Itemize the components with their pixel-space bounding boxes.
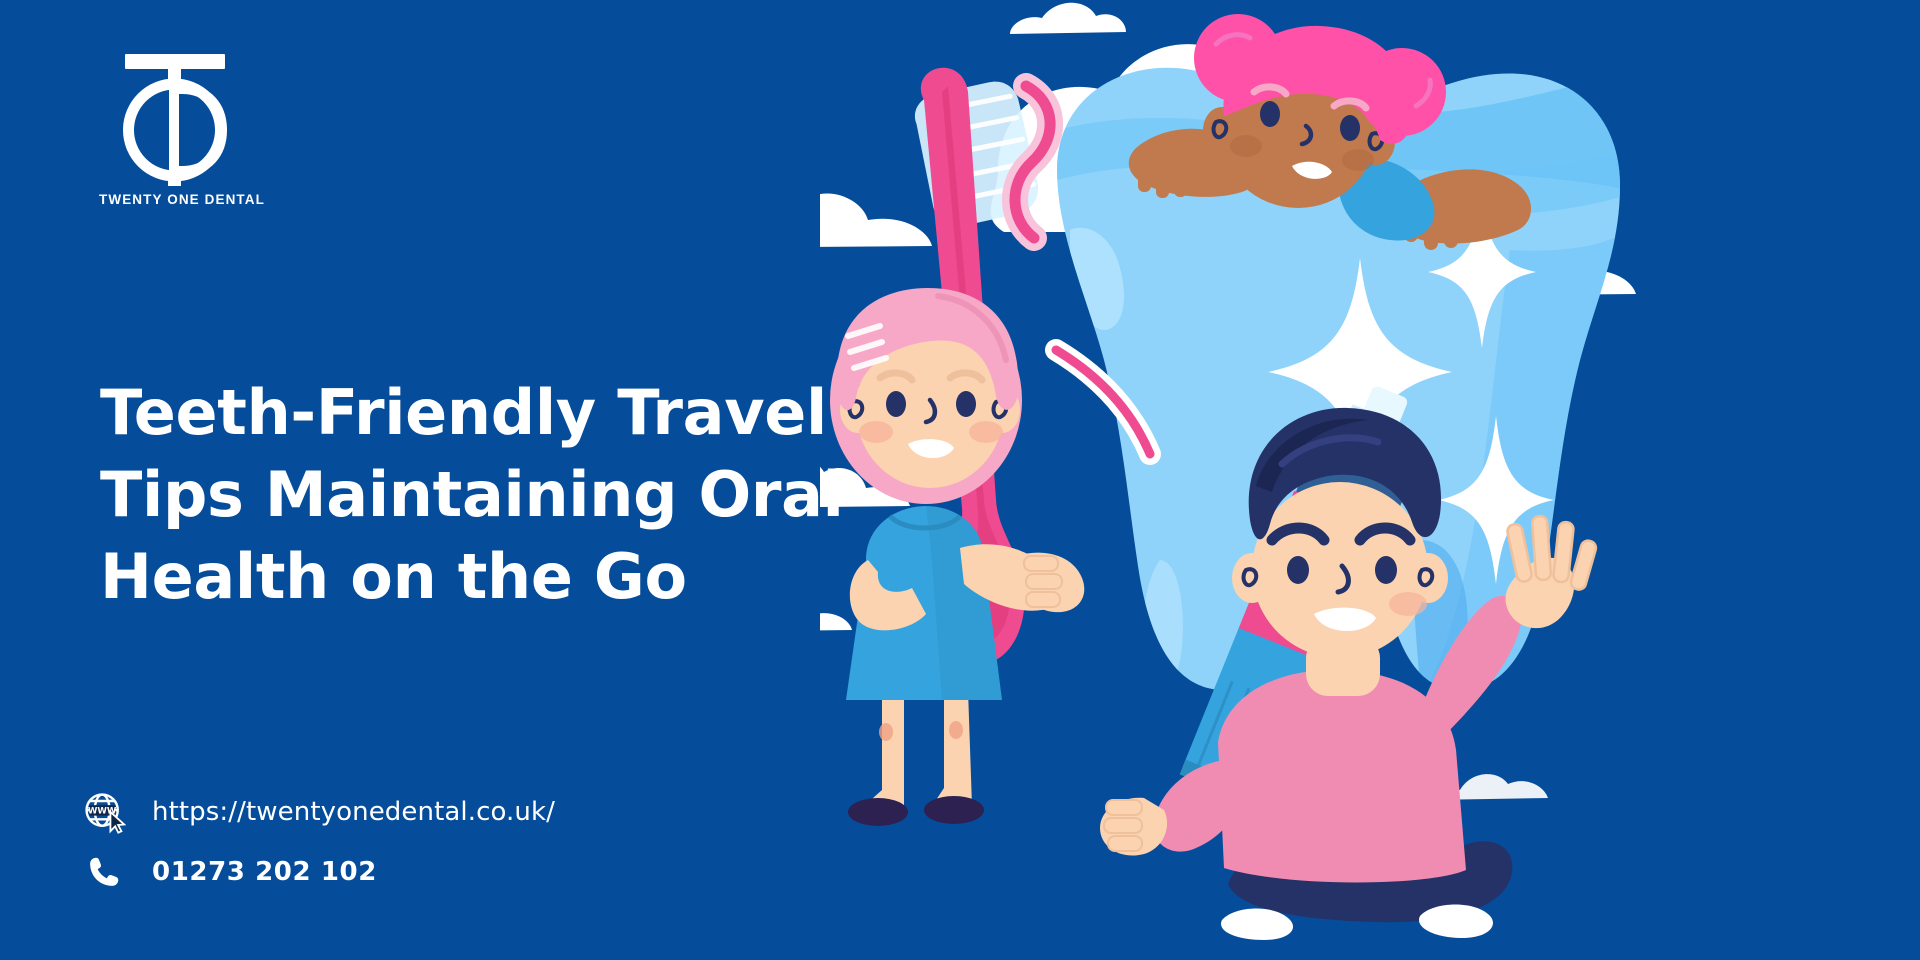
- contact-block: WWW https://twentyonedental.co.uk/ 01273…: [78, 782, 698, 902]
- contact-row-phone[interactable]: 01273 202 102: [78, 842, 698, 902]
- page-title: Teeth-Friendly Travel Tips Maintaining O…: [100, 372, 860, 618]
- girl-pink-bob: [830, 288, 1084, 826]
- website-url[interactable]: https://twentyonedental.co.uk/: [130, 797, 555, 827]
- brand-wordmark: TWENTY ONE DENTAL: [82, 192, 282, 207]
- phone-handset-icon: [78, 848, 130, 896]
- banner-canvas: TWENTY ONE DENTAL Teeth-Friendly Travel …: [0, 0, 1920, 960]
- cloud-lower-left: [820, 589, 852, 632]
- illustration-kids-with-giant-tooth: [820, 0, 1920, 960]
- globe-www-cursor-icon: WWW: [78, 788, 130, 836]
- brand-logo[interactable]: TWENTY ONE DENTAL: [92, 42, 292, 222]
- cloud-mid-left: [820, 182, 932, 248]
- phone-number[interactable]: 01273 202 102: [130, 857, 377, 887]
- twenty-one-dental-monogram-icon: [100, 42, 250, 192]
- cloud-top: [1010, 3, 1126, 34]
- contact-row-website[interactable]: WWW https://twentyonedental.co.uk/: [78, 782, 698, 842]
